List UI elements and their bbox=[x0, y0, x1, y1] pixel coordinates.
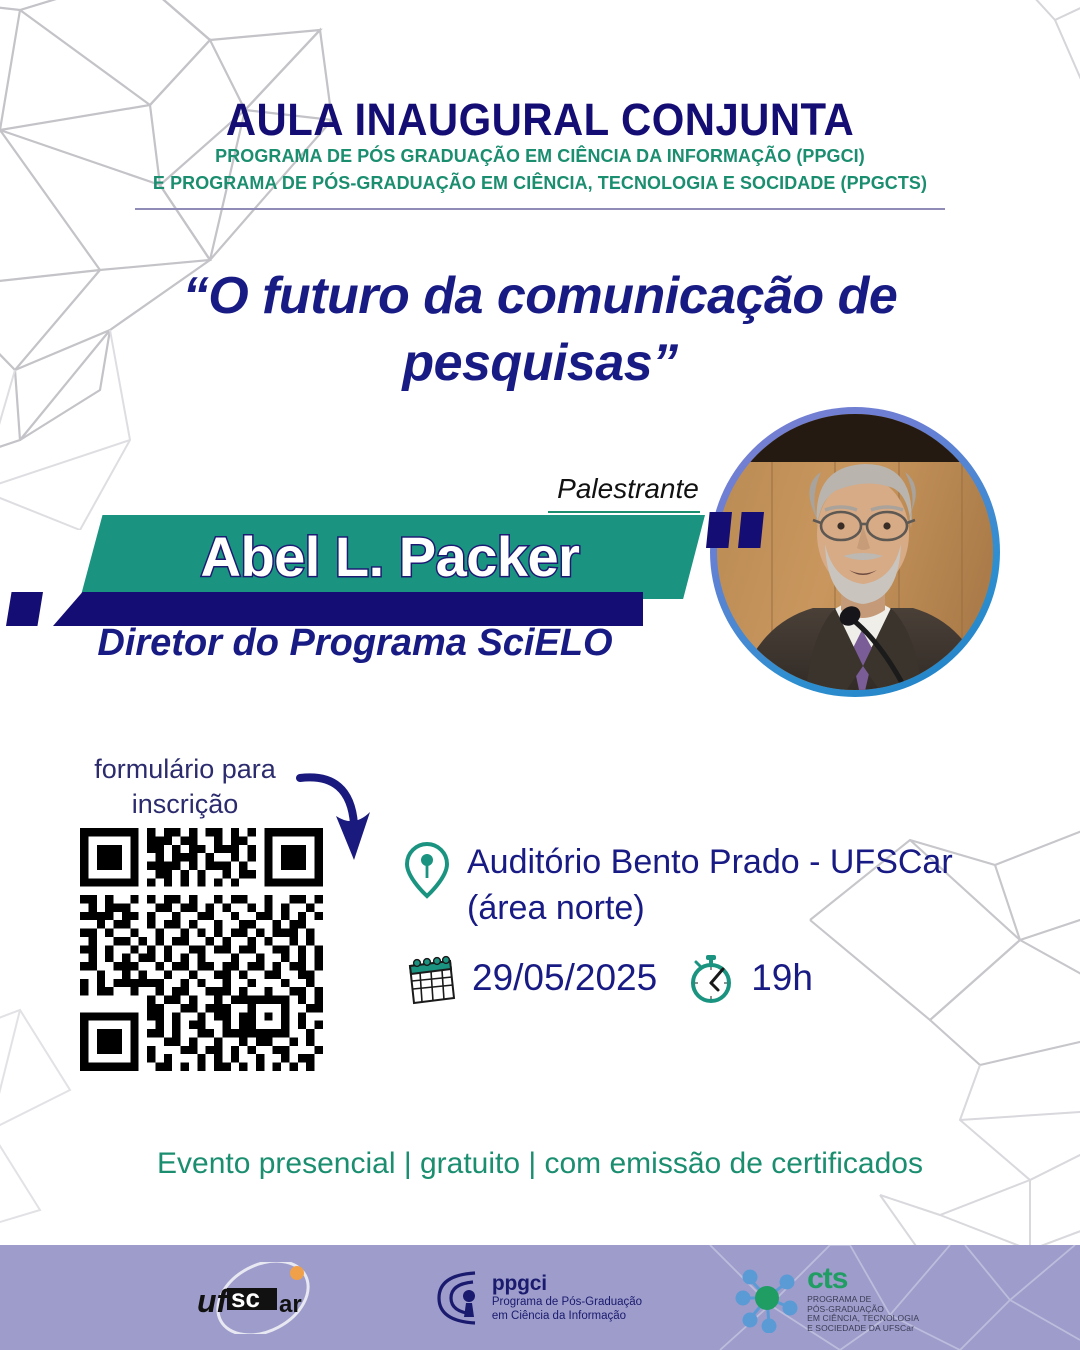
footer-logo-row: uf sc ar ppgci Programa de Pós-Graduação… bbox=[0, 1245, 1080, 1350]
event-poster: AULA INAUGURAL CONJUNTA PROGRAMA DE PÓS … bbox=[0, 0, 1080, 1350]
registration-label-line-2: inscrição bbox=[132, 789, 239, 819]
speaker-label: Palestrante bbox=[548, 474, 708, 505]
cts-logo: cts PROGRAMA DE PÓS-GRADUAÇÃO EM CIÊNCIA… bbox=[734, 1262, 919, 1334]
ppgci-logo: ppgci Programa de Pós-Graduação em Ciênc… bbox=[433, 1267, 642, 1329]
header-divider bbox=[135, 208, 945, 210]
ppgci-subtitle-line-2: em Ciência da Informação bbox=[492, 1310, 642, 1323]
stopwatch-icon bbox=[683, 950, 739, 1006]
ppgci-title: ppgci bbox=[492, 1272, 642, 1296]
ppgci-mark-icon bbox=[433, 1267, 487, 1329]
cts-subtitle-line-4: E SOCIEDADE DA UFSCar bbox=[807, 1324, 919, 1334]
registration-qr-code[interactable] bbox=[80, 828, 323, 1071]
time-text: 19h bbox=[751, 957, 813, 999]
location-pin-icon bbox=[404, 840, 450, 900]
event-tagline: Evento presencial | gratuito | com emiss… bbox=[0, 1147, 1080, 1181]
navy-accent-chip-left bbox=[6, 592, 43, 626]
speaker-label-wrap: Palestrante bbox=[548, 474, 708, 513]
page-title: AULA INAUGURAL CONJUNTA bbox=[38, 96, 1042, 143]
svg-text:ar: ar bbox=[279, 1291, 302, 1318]
registration-label-line-1: formulário para bbox=[94, 754, 276, 784]
speaker-name: Abel L. Packer bbox=[80, 523, 700, 590]
svg-text:uf: uf bbox=[197, 1283, 231, 1319]
speaker-navy-bar bbox=[53, 592, 643, 626]
date-time-row: 29/05/2025 19h bbox=[404, 950, 813, 1006]
time-detail: 19h bbox=[683, 950, 813, 1006]
date-detail: 29/05/2025 bbox=[404, 950, 657, 1006]
venue-detail: Auditório Bento Prado - UFSCar (área nor… bbox=[404, 840, 1027, 932]
cts-title: cts bbox=[807, 1262, 919, 1296]
lecture-title: “O futuro da comunicação de pesquisas” bbox=[110, 263, 970, 396]
venue-text: Auditório Bento Prado - UFSCar (área nor… bbox=[467, 840, 1027, 932]
calendar-icon bbox=[404, 950, 460, 1006]
date-text: 29/05/2025 bbox=[472, 957, 657, 999]
avatar bbox=[717, 414, 993, 690]
poster-footer: uf sc ar ppgci Programa de Pós-Graduação… bbox=[0, 1245, 1080, 1350]
navy-accent-chip-a bbox=[706, 512, 732, 548]
navy-accent-chip-b bbox=[738, 512, 764, 548]
header-subtitle-line-1: PROGRAMA DE PÓS GRADUAÇÃO EM CIÊNCIA DA … bbox=[16, 143, 1064, 170]
ufscar-logo: uf sc ar bbox=[191, 1262, 341, 1334]
cts-molecule-icon bbox=[734, 1263, 800, 1333]
header-subtitle-line-2: E PROGRAMA DE PÓS-GRADUAÇÃO EM CIÊNCIA, … bbox=[16, 170, 1064, 197]
speaker-label-underline bbox=[548, 511, 700, 513]
svg-text:sc: sc bbox=[231, 1283, 260, 1313]
speaker-portrait-ring bbox=[710, 407, 1000, 697]
speaker-role: Diretor do Programa SciELO bbox=[55, 622, 655, 665]
ppgci-subtitle-line-1: Programa de Pós-Graduação bbox=[492, 1296, 642, 1309]
poster-header: AULA INAUGURAL CONJUNTA PROGRAMA DE PÓS … bbox=[0, 96, 1080, 210]
registration-label: formulário para inscrição bbox=[62, 752, 308, 822]
